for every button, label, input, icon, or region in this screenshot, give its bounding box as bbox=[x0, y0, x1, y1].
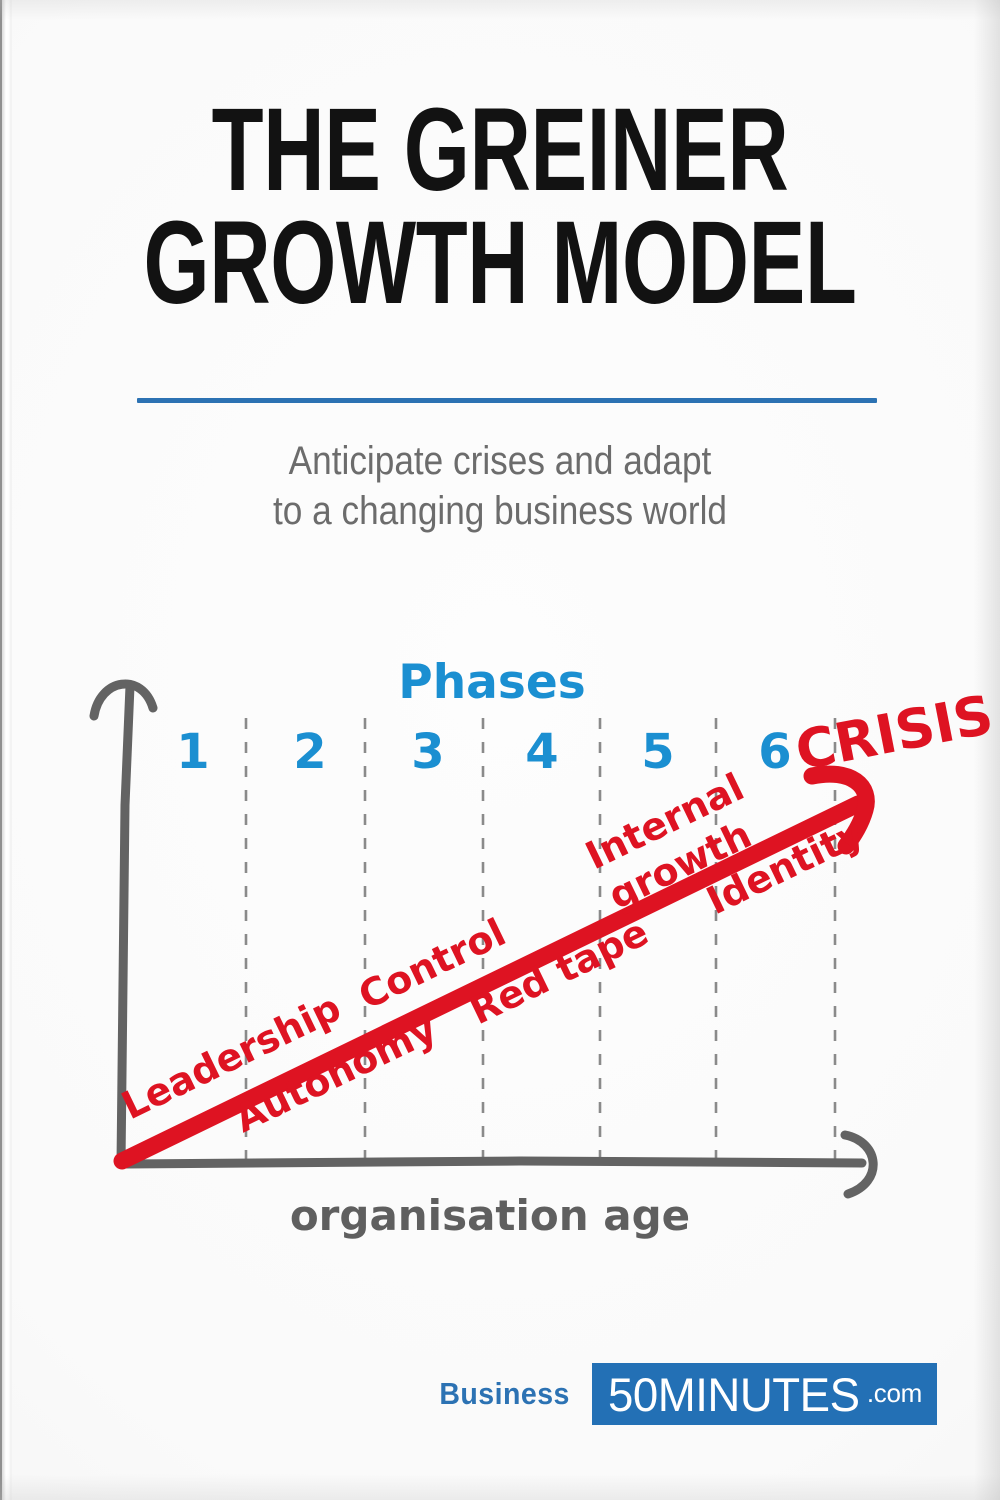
title-line-1: THE GREINER bbox=[140, 96, 860, 205]
phase-number-3: 3 bbox=[411, 724, 444, 780]
book-cover: THE GREINER GROWTH MODEL Anticipate cris… bbox=[0, 0, 1000, 1500]
phase-number-4: 4 bbox=[525, 724, 558, 780]
series-label: Business bbox=[439, 1376, 569, 1412]
title-line-2: GROWTH MODEL bbox=[140, 209, 860, 318]
title-divider bbox=[137, 398, 877, 403]
phase-number-1: 1 bbox=[176, 724, 209, 780]
greiner-growth-chart: organisation size organisation age Phase… bbox=[0, 620, 1000, 1300]
publisher-logo-tld: .com bbox=[867, 1380, 922, 1409]
x-axis-line bbox=[120, 1161, 862, 1164]
phases-header: Phases bbox=[398, 655, 585, 710]
top-shadow bbox=[0, 0, 1000, 20]
page-title: THE GREINER GROWTH MODEL bbox=[0, 96, 1000, 317]
x-axis bbox=[120, 1161, 862, 1164]
phase-number-5: 5 bbox=[641, 724, 674, 780]
bottom-shadow bbox=[0, 1474, 1000, 1500]
publisher-logo-main: 50MINUTES bbox=[608, 1371, 860, 1418]
phase-number-6: 6 bbox=[758, 724, 791, 780]
subtitle-line-1: Anticipate crises and adapt bbox=[60, 437, 940, 487]
x-axis-label: organisation age bbox=[290, 1191, 690, 1240]
phase-number-2: 2 bbox=[293, 724, 326, 780]
subtitle-line-2: to a changing business world bbox=[60, 487, 940, 537]
publisher-logo: 50MINUTES .com bbox=[592, 1363, 937, 1425]
subtitle: Anticipate crises and adapt to a changin… bbox=[60, 437, 940, 536]
cover-footer: Business 50MINUTES .com bbox=[0, 1363, 1000, 1425]
y-axis-arrowhead bbox=[94, 684, 153, 716]
